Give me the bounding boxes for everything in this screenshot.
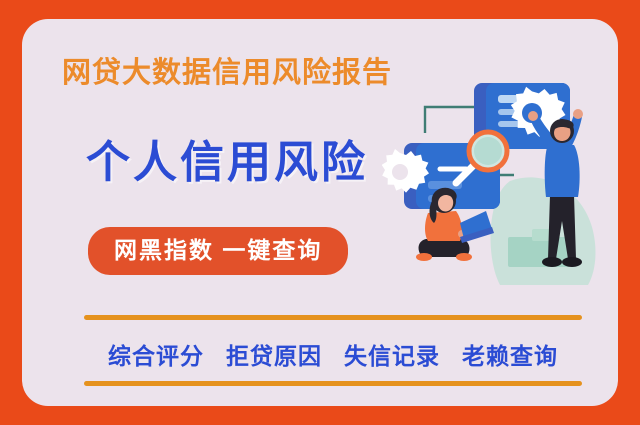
- footer-link-list: 综合评分 拒贷原因 失信记录 老赖查询: [84, 337, 582, 371]
- illustration: [382, 61, 610, 289]
- footer-link-default-record[interactable]: 失信记录: [344, 337, 440, 371]
- footer-link-score[interactable]: 综合评分: [108, 337, 204, 371]
- footer-link-debtor-query[interactable]: 老赖查询: [462, 337, 558, 371]
- divider-top: [84, 315, 582, 320]
- banner-headline: 个人信用风险: [86, 141, 368, 185]
- promo-banner: 网贷大数据信用风险报告 个人信用风险 网黑指数 一键查询 综合评分 拒贷原因 失…: [0, 0, 640, 425]
- query-cta-button[interactable]: 网黑指数 一键查询: [88, 227, 348, 275]
- divider-bottom: [84, 381, 582, 386]
- footer-link-reject-reason[interactable]: 拒贷原因: [226, 337, 322, 371]
- banner-title: 网贷大数据信用风险报告: [62, 59, 392, 88]
- banner-panel: 网贷大数据信用风险报告 个人信用风险 网黑指数 一键查询 综合评分 拒贷原因 失…: [22, 19, 618, 406]
